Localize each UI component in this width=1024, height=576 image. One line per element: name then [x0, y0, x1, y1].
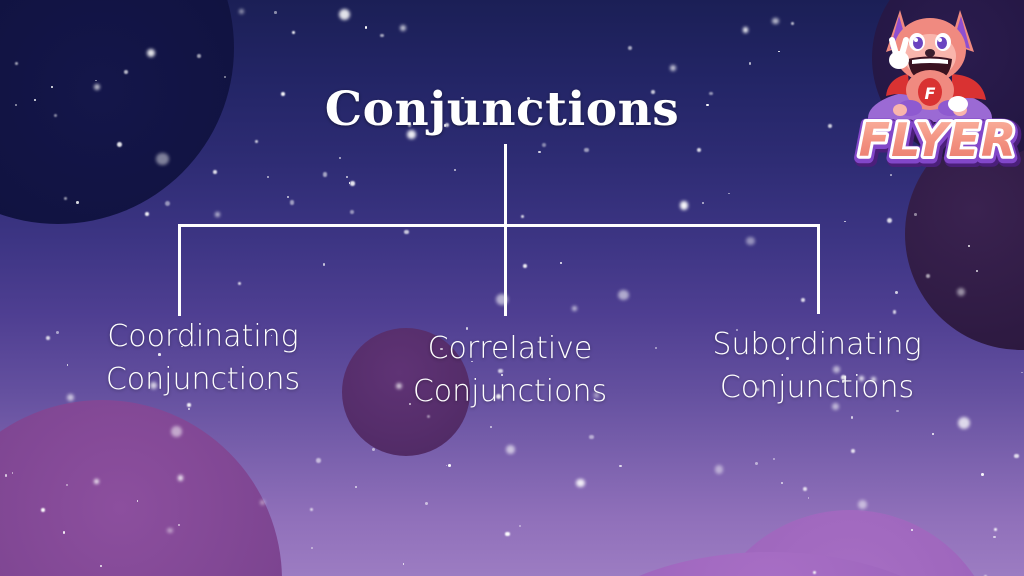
star-dot	[5, 474, 8, 477]
star-dot	[572, 306, 577, 311]
star-dot	[618, 290, 628, 300]
star-dot	[355, 486, 358, 489]
star-dot	[290, 200, 295, 205]
star-dot	[454, 169, 456, 171]
star-dot	[749, 62, 752, 65]
star-dot	[171, 426, 182, 437]
star-dot	[215, 212, 220, 217]
star-dot	[346, 176, 348, 178]
star-dot	[976, 270, 978, 272]
star-dot	[339, 9, 350, 20]
flyer-wordmark-icon: FLYER FLYER FLYER FLYER	[852, 104, 1024, 176]
star-dot	[380, 34, 383, 37]
star-dot	[926, 274, 930, 278]
star-dot	[255, 140, 258, 143]
star-dot	[743, 27, 748, 32]
planet-bottom-edge	[560, 552, 980, 576]
branch-line1: Coordinating	[107, 319, 298, 354]
star-dot	[197, 54, 201, 58]
star-dot	[968, 245, 970, 247]
star-dot	[994, 528, 997, 531]
star-dot	[311, 547, 313, 549]
star-dot	[851, 449, 855, 453]
star-dot	[178, 475, 184, 481]
star-dot	[521, 215, 524, 218]
star-dot	[310, 508, 313, 511]
star-dot	[339, 157, 341, 159]
connector-stem	[504, 144, 507, 226]
star-dot	[1014, 454, 1019, 459]
star-dot	[287, 196, 289, 198]
star-dot	[519, 525, 521, 527]
star-dot	[523, 264, 528, 269]
star-dot	[542, 143, 546, 147]
star-dot	[893, 310, 897, 314]
star-dot	[958, 417, 970, 429]
star-dot	[670, 65, 676, 71]
star-dot	[858, 500, 867, 509]
star-dot	[808, 497, 810, 499]
star-dot	[267, 176, 269, 178]
star-dot	[560, 262, 562, 264]
star-dot	[425, 502, 428, 505]
planet-bottom-right	[700, 510, 1000, 576]
flyer-logo: F F	[852, 0, 1024, 190]
star-dot	[715, 465, 724, 474]
star-dot	[117, 142, 122, 147]
branch-label-subordinating: Subordinating Conjunctions	[672, 324, 962, 409]
star-dot	[496, 294, 507, 305]
branch-line1: Subordinating	[712, 327, 921, 362]
star-dot	[349, 182, 351, 184]
star-dot	[981, 473, 984, 476]
star-dot	[505, 532, 510, 537]
star-dot	[619, 465, 622, 468]
star-dot	[316, 458, 321, 463]
star-dot	[813, 571, 816, 574]
star-dot	[100, 565, 102, 567]
star-dot	[76, 201, 79, 204]
branch-line2: Conjunctions	[395, 371, 625, 414]
star-dot	[147, 49, 155, 57]
star-dot	[400, 25, 406, 31]
star-dot	[213, 170, 217, 174]
star-dot	[589, 435, 593, 439]
star-dot	[746, 237, 754, 245]
star-dot	[702, 202, 704, 204]
star-dot	[914, 213, 917, 216]
star-dot	[895, 291, 898, 294]
star-dot	[365, 26, 368, 29]
branch-line1: Correlative	[428, 331, 593, 366]
star-dot	[145, 212, 150, 217]
star-dot	[239, 9, 244, 14]
star-dot	[165, 201, 170, 206]
connector-drop-right	[817, 224, 820, 314]
star-dot	[655, 347, 657, 349]
star-dot	[957, 288, 965, 296]
star-dot	[372, 448, 375, 451]
star-dot	[803, 487, 807, 491]
star-dot	[238, 282, 241, 285]
star-dot	[772, 18, 779, 25]
star-dot	[791, 22, 794, 25]
star-dot	[448, 464, 451, 467]
star-dot	[292, 31, 296, 35]
svg-text:F: F	[925, 84, 936, 103]
star-dot	[773, 458, 775, 460]
star-dot	[851, 416, 854, 419]
star-dot	[15, 62, 18, 65]
star-dot	[187, 403, 191, 407]
star-dot	[156, 153, 169, 166]
slide-canvas: Conjunctions Coordinating Conjunctions C…	[0, 0, 1024, 576]
star-dot	[844, 221, 846, 223]
star-dot	[403, 563, 405, 565]
star-dot	[932, 433, 934, 435]
star-dot	[778, 51, 780, 53]
planet-bottom-left	[0, 400, 282, 576]
star-dot	[993, 536, 996, 539]
branch-label-coordinating: Coordinating Conjunctions	[48, 316, 358, 401]
star-dot	[64, 197, 67, 200]
star-dot	[887, 218, 892, 223]
star-dot	[63, 531, 66, 534]
star-dot	[12, 472, 14, 474]
branch-line2: Conjunctions	[672, 367, 962, 410]
star-dot	[188, 408, 190, 410]
star-dot	[628, 46, 633, 51]
flyer-wordmark-text: FLYER	[859, 113, 1018, 167]
star-dot	[781, 482, 783, 484]
star-dot	[576, 479, 585, 488]
star-dot	[680, 201, 688, 209]
star-dot	[490, 426, 492, 428]
star-dot	[260, 500, 265, 505]
star-dot	[274, 11, 277, 14]
star-dot	[167, 528, 172, 533]
branch-line2: Conjunctions	[48, 359, 358, 402]
star-dot	[427, 415, 431, 419]
star-dot	[66, 484, 68, 486]
star-dot	[506, 445, 515, 454]
star-dot	[94, 479, 99, 484]
star-dot	[350, 181, 355, 186]
star-dot	[896, 410, 899, 413]
connector-drop-left	[178, 224, 181, 316]
star-dot	[728, 193, 730, 195]
star-dot	[1021, 372, 1023, 374]
star-dot	[755, 462, 758, 465]
star-dot	[697, 148, 701, 152]
star-dot	[404, 230, 409, 235]
star-dot	[538, 151, 541, 154]
star-dot	[911, 529, 913, 531]
star-dot	[350, 210, 354, 214]
star-dot	[323, 172, 328, 177]
star-dot	[323, 263, 326, 266]
connector-horizontal-bar	[178, 224, 820, 227]
star-dot	[584, 148, 588, 152]
star-dot	[801, 298, 805, 302]
branch-label-correlative: Correlative Conjunctions	[395, 328, 625, 413]
star-dot	[41, 508, 46, 513]
star-dot	[137, 500, 139, 502]
star-dot	[446, 465, 448, 467]
star-dot	[178, 524, 180, 526]
star-dot	[224, 76, 226, 78]
star-dot	[124, 70, 128, 74]
connector-drop-middle	[504, 224, 507, 316]
